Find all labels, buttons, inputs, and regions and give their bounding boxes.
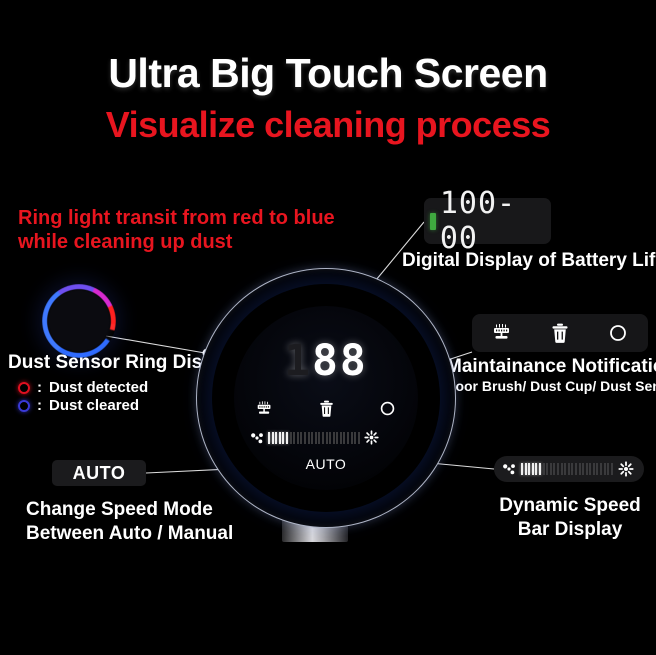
device-mode-label[interactable]: AUTO [234,456,418,472]
fan-large-icon [364,430,379,445]
speed-tick [582,463,584,475]
legend-item-dust-detected: : Dust detected [18,379,148,396]
auto-mode-chip[interactable]: AUTO [52,460,146,486]
speed-tick [318,432,320,444]
dynamic-speed-bar-label: Dynamic Speed Bar Display [494,494,646,542]
device-digit-ghost: 1 [284,336,312,386]
speed-tick [528,463,530,475]
legend-colon: : [37,397,42,414]
device-maintenance-icons [256,400,396,417]
speed-tick [586,463,588,475]
speed-tick [311,432,313,444]
speed-tick [543,463,545,475]
device-speed-ticks [268,431,360,444]
battery-level-indicator-icon [430,213,436,230]
speed-tick [589,463,591,475]
speed-tick [575,463,577,475]
speed-tick [354,432,356,444]
speed-tick [351,432,353,444]
legend-label: Dust cleared [49,397,139,414]
speed-tick [579,463,581,475]
page-subtitle: Visualize cleaning process [0,104,656,146]
ring-light-note: Ring light transit from red to blue whil… [18,206,335,255]
auto-mode-chip-label: AUTO [73,463,126,484]
ring-light-note-line1: Ring light transit from red to blue [18,206,335,230]
legend-item-dust-cleared: : Dust cleared [18,397,139,414]
speed-tick [326,432,328,444]
speed-tick [336,432,338,444]
speed-tick [561,463,563,475]
speed-tick [546,463,548,475]
fan-small-icon [250,431,264,445]
speed-tick [532,463,534,475]
speed-tick [290,432,292,444]
speed-tick [329,432,331,444]
page-title: Ultra Big Touch Screen [0,50,656,97]
speed-tick [347,432,349,444]
speed-tick [607,463,609,475]
speed-tick [611,463,613,475]
speed-tick [568,463,570,475]
battery-readout: 100-00 [440,186,551,256]
speed-bar-ticks [521,463,613,476]
dust-sensor-ring-icon [42,284,116,358]
speed-tick [600,463,602,475]
dust-cup-icon[interactable] [319,400,334,417]
speed-tick [564,463,566,475]
battery-display-chip: 100-00 [424,198,551,244]
dust-cup-icon [551,323,569,343]
device-digit-value: 88 [312,336,368,386]
maintenance-notification-chip [472,314,648,352]
device-speed-bar[interactable] [250,430,402,445]
speed-tick [550,463,552,475]
speed-tick [279,432,281,444]
speed-tick [315,432,317,444]
speed-tick [282,432,284,444]
speed-tick [297,432,299,444]
speed-tick [553,463,555,475]
speed-label-line2: Bar Display [494,518,646,542]
blue-ring-icon [18,400,30,412]
speed-tick [268,432,270,444]
speed-tick [275,432,277,444]
speed-tick [322,432,324,444]
speed-tick [358,432,360,444]
speed-tick [286,432,288,444]
speed-tick [300,432,302,444]
speed-tick [593,463,595,475]
red-ring-icon [18,382,30,394]
fan-small-icon [502,462,516,476]
device-digit-readout: 188 [234,336,418,386]
speed-tick [308,432,310,444]
legend-label: Dust detected [49,379,148,396]
fan-large-icon [618,461,634,477]
dust-sensor-icon[interactable] [379,400,396,417]
speed-tick [539,463,541,475]
dust-sensor-icon [608,323,628,343]
speed-tick [604,463,606,475]
speed-tick [304,432,306,444]
speed-tick [521,463,523,475]
floor-brush-icon[interactable] [256,401,273,417]
speed-tick [272,432,274,444]
speed-tick [535,463,537,475]
speed-tick [557,463,559,475]
speed-tick [571,463,573,475]
speed-tick [596,463,598,475]
legend-colon: : [37,379,42,396]
speed-tick [343,432,345,444]
speed-label-line1: Dynamic Speed [494,494,646,518]
device-screen: 188 [234,306,418,490]
maintenance-notification-label: Maintainance Notification [446,356,656,378]
speed-tick [333,432,335,444]
vacuum-display-device: 188 [196,268,456,568]
speed-tick [340,432,342,444]
dynamic-speed-bar-chip [494,456,644,482]
speed-tick [525,463,527,475]
speed-tick [293,432,295,444]
ring-light-note-line2: while cleaning up dust [18,230,335,254]
maintenance-notification-sublabel: Floor Brush/ Dust Cup/ Dust Sensor [443,378,656,394]
floor-brush-icon [492,324,512,342]
